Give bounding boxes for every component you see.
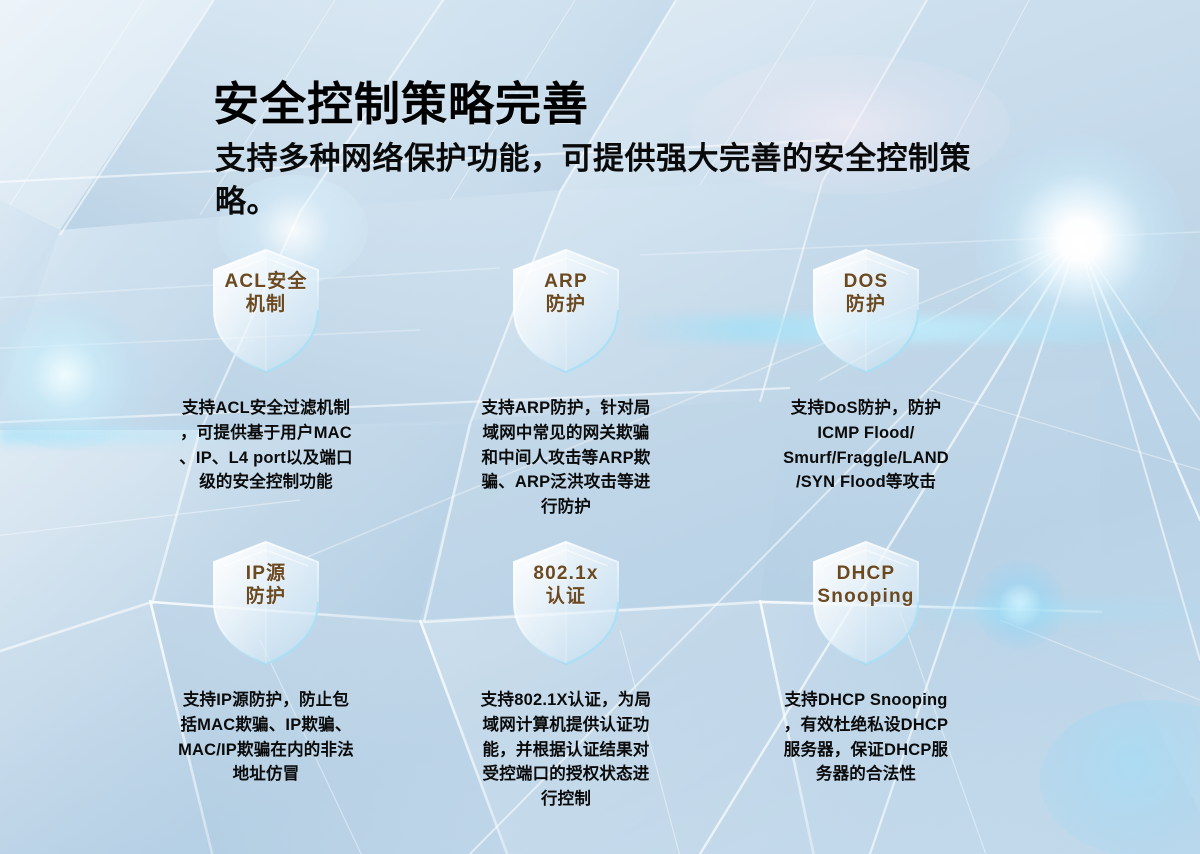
- shield-label-ip-source: IP源防护: [210, 562, 322, 608]
- shield-label-line2: 防护: [510, 293, 622, 316]
- shield-label-line2: 机制: [210, 293, 322, 316]
- caption-line: ICMP Flood/: [728, 421, 1004, 446]
- lower-right-glow: [1040, 700, 1200, 854]
- caption-line: 支持ARP防护，针对局: [428, 396, 704, 421]
- caption-line: MAC/IP欺骗在内的非法: [128, 738, 404, 763]
- poster-root: 安全控制策略完善 支持多种网络保护功能，可提供强大完善的安全控制策略。 ACL安…: [0, 0, 1200, 854]
- shield-label-dos: DOS防护: [810, 270, 922, 316]
- caption-line: 支持DoS防护，防护: [728, 396, 1004, 421]
- caption-line: /SYN Flood等攻击: [728, 470, 1004, 495]
- feature-card-arp[interactable]: ARP防护支持ARP防护，针对局域网中常见的网关欺骗和中间人攻击等ARP欺骗、A…: [416, 248, 716, 520]
- caption-line: 骗、ARP泛洪攻击等进: [428, 470, 704, 495]
- caption-line: 支持IP源防护，防止包: [128, 688, 404, 713]
- feature-card-dhcp-snooping[interactable]: DHCPSnooping支持DHCP Snooping，有效杜绝私设DHCP服务…: [716, 540, 1016, 787]
- shield-label-line1: DOS: [844, 271, 889, 292]
- feature-card-dot1x[interactable]: 802.1x认证支持802.1X认证，为局域网计算机提供认证功能，并根据认证结果…: [416, 540, 716, 812]
- shield-label-line2: 防护: [210, 585, 322, 608]
- caption-line: 级的安全控制功能: [128, 470, 404, 495]
- caption-line: 支持DHCP Snooping: [728, 688, 1004, 713]
- shield-label-arp: ARP防护: [510, 270, 622, 316]
- shield-badge-ip-source: IP源防护: [210, 540, 322, 666]
- caption-line: 、IP、L4 port以及端口: [128, 446, 404, 471]
- shield-label-line2: 认证: [510, 585, 622, 608]
- caption-line: 务器的合法性: [728, 762, 1004, 787]
- page-subtitle: 支持多种网络保护功能，可提供强大完善的安全控制策略。: [215, 138, 975, 224]
- shield-label-line2: 防护: [810, 293, 922, 316]
- shield-label-dhcp-snooping: DHCPSnooping: [810, 562, 922, 608]
- shield-badge-dhcp-snooping: DHCPSnooping: [810, 540, 922, 666]
- feature-card-ip-source[interactable]: IP源防护支持IP源防护，防止包括MAC欺骗、IP欺骗、MAC/IP欺骗在内的非…: [116, 540, 416, 787]
- shield-label-line1: ACL安全: [224, 271, 307, 292]
- caption-line: 括MAC欺骗、IP欺骗、: [128, 713, 404, 738]
- caption-line: 能，并根据认证结果对: [428, 738, 704, 763]
- caption-line: 受控端口的授权状态进: [428, 762, 704, 787]
- shield-label-line1: IP源: [246, 563, 287, 584]
- caption-line: 行控制: [428, 787, 704, 812]
- caption-line: Smurf/Fraggle/LAND: [728, 446, 1004, 471]
- caption-line: ，有效杜绝私设DHCP: [728, 713, 1004, 738]
- shield-label-dot1x: 802.1x认证: [510, 562, 622, 608]
- feature-caption-dot1x: 支持802.1X认证，为局域网计算机提供认证功能，并根据认证结果对受控端口的授权…: [416, 688, 716, 812]
- caption-line: 地址仿冒: [128, 762, 404, 787]
- feature-caption-dos: 支持DoS防护，防护ICMP Flood/Smurf/Fraggle/LAND/…: [716, 396, 1016, 495]
- feature-caption-arp: 支持ARP防护，针对局域网中常见的网关欺骗和中间人攻击等ARP欺骗、ARP泛洪攻…: [416, 396, 716, 520]
- shield-badge-dot1x: 802.1x认证: [510, 540, 622, 666]
- caption-line: 域网计算机提供认证功: [428, 713, 704, 738]
- shield-label-line2: Snooping: [810, 585, 922, 608]
- page-title: 安全控制策略完善: [213, 68, 589, 134]
- caption-line: 域网中常见的网关欺骗: [428, 421, 704, 446]
- shield-badge-dos: DOS防护: [810, 248, 922, 374]
- shield-label-acl: ACL安全机制: [210, 270, 322, 316]
- shield-label-line1: DHCP: [837, 563, 896, 584]
- feature-caption-ip-source: 支持IP源防护，防止包括MAC欺骗、IP欺骗、MAC/IP欺骗在内的非法地址仿冒: [116, 688, 416, 787]
- shield-label-line1: ARP: [544, 271, 588, 292]
- feature-caption-dhcp-snooping: 支持DHCP Snooping，有效杜绝私设DHCP服务器，保证DHCP服务器的…: [716, 688, 1016, 787]
- feature-card-dos[interactable]: DOS防护支持DoS防护，防护ICMP Flood/Smurf/Fraggle/…: [716, 248, 1016, 495]
- shield-badge-acl: ACL安全机制: [210, 248, 322, 374]
- feature-card-acl[interactable]: ACL安全机制支持ACL安全过滤机制，可提供基于用户MAC、IP、L4 port…: [116, 248, 416, 495]
- caption-line: 行防护: [428, 495, 704, 520]
- feature-caption-acl: 支持ACL安全过滤机制，可提供基于用户MAC、IP、L4 port以及端口级的安…: [116, 396, 416, 495]
- shield-label-line1: 802.1x: [533, 563, 598, 584]
- caption-line: ，可提供基于用户MAC: [128, 421, 404, 446]
- caption-line: 和中间人攻击等ARP欺: [428, 446, 704, 471]
- caption-line: 支持802.1X认证，为局: [428, 688, 704, 713]
- shield-badge-arp: ARP防护: [510, 248, 622, 374]
- caption-line: 服务器，保证DHCP服: [728, 738, 1004, 763]
- caption-line: 支持ACL安全过滤机制: [128, 396, 404, 421]
